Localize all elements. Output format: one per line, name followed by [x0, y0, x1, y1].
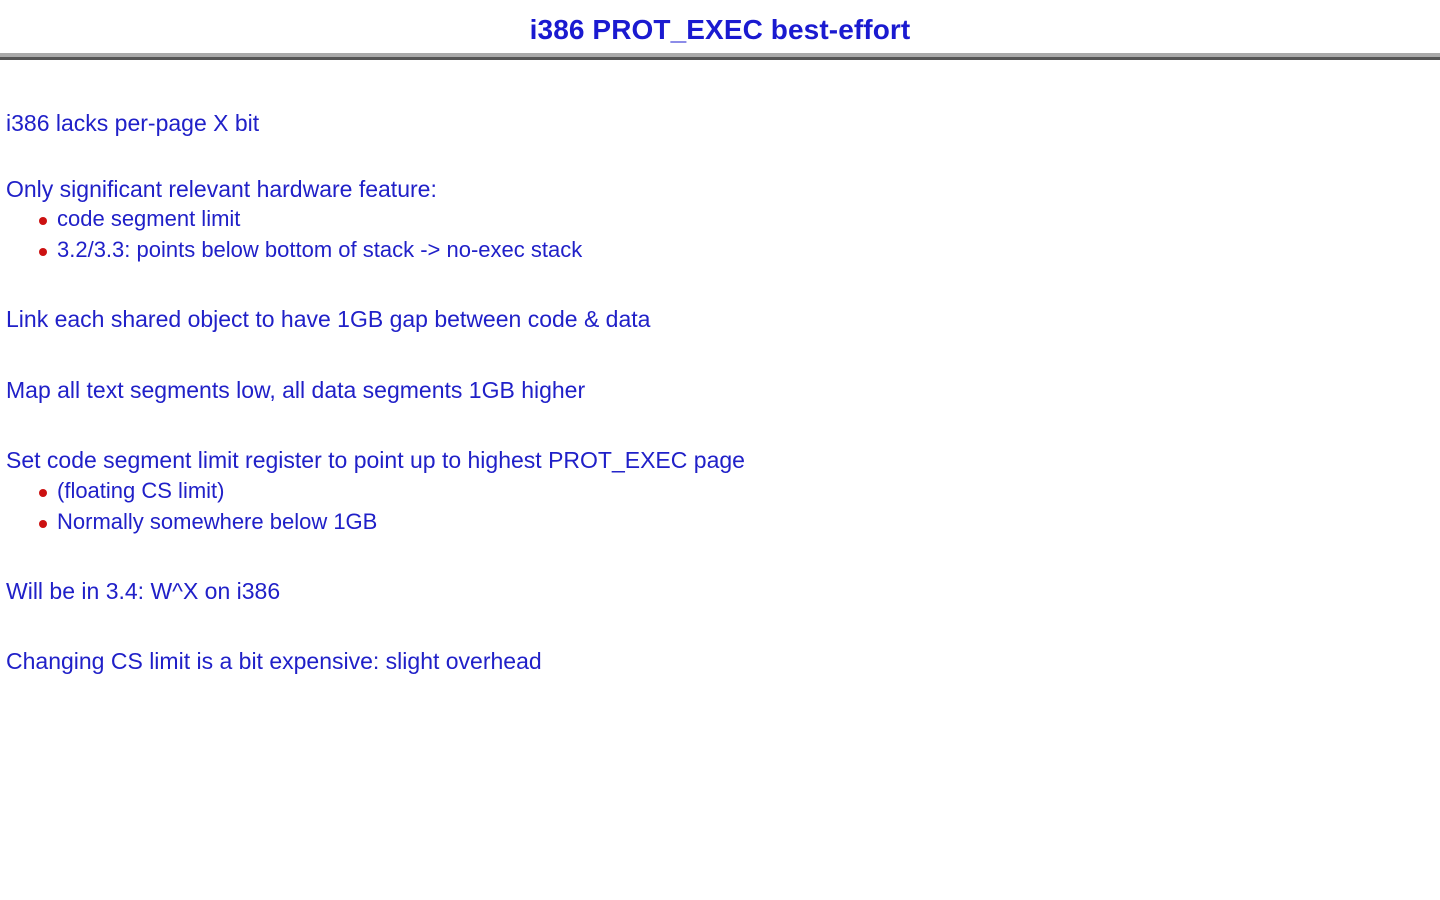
- body-line: Only significant relevant hardware featu…: [6, 176, 437, 202]
- bullet-dot-icon: [39, 489, 47, 497]
- bullet-item-text: 3.2/3.3: points below bottom of stack ->…: [57, 237, 582, 262]
- bullet-item-text: (floating CS limit): [57, 478, 224, 503]
- bullet-dot-icon: [39, 217, 47, 225]
- body-line: i386 lacks per-page X bit: [6, 110, 259, 136]
- bullet-item-text: Normally somewhere below 1GB: [57, 509, 377, 534]
- body-line-text: Will be in 3.4: W^X on i386: [6, 578, 280, 604]
- body-line-text: Map all text segments low, all data segm…: [6, 377, 585, 403]
- slide-canvas: i386 PROT_EXEC best-effort i386 lacks pe…: [0, 0, 1440, 900]
- body-line: Link each shared object to have 1GB gap …: [6, 306, 650, 332]
- body-line: Changing CS limit is a bit expensive: sl…: [6, 648, 542, 674]
- slide-body: i386 lacks per-page X bitOnly significan…: [0, 60, 1440, 900]
- bullet-list-item: Normally somewhere below 1GB: [36, 509, 377, 535]
- body-line-text: Changing CS limit is a bit expensive: sl…: [6, 648, 542, 674]
- bullet-list-item: (floating CS limit): [36, 478, 224, 504]
- title-divider: [0, 53, 1440, 60]
- bullet-dot-icon: [39, 520, 47, 528]
- bullet-item-text: code segment limit: [57, 206, 240, 231]
- body-line-text: i386 lacks per-page X bit: [6, 110, 259, 136]
- page-title: i386 PROT_EXEC best-effort: [0, 14, 1440, 46]
- body-line-text: Set code segment limit register to point…: [6, 447, 745, 473]
- body-line: Map all text segments low, all data segm…: [6, 377, 585, 403]
- body-line: Set code segment limit register to point…: [6, 447, 745, 473]
- bullet-list-item: 3.2/3.3: points below bottom of stack ->…: [36, 237, 582, 263]
- body-line: Will be in 3.4: W^X on i386: [6, 578, 280, 604]
- bullet-dot-icon: [39, 248, 47, 256]
- body-line-text: Link each shared object to have 1GB gap …: [6, 306, 650, 332]
- body-line-text: Only significant relevant hardware featu…: [6, 176, 437, 202]
- bullet-list-item: code segment limit: [36, 206, 240, 232]
